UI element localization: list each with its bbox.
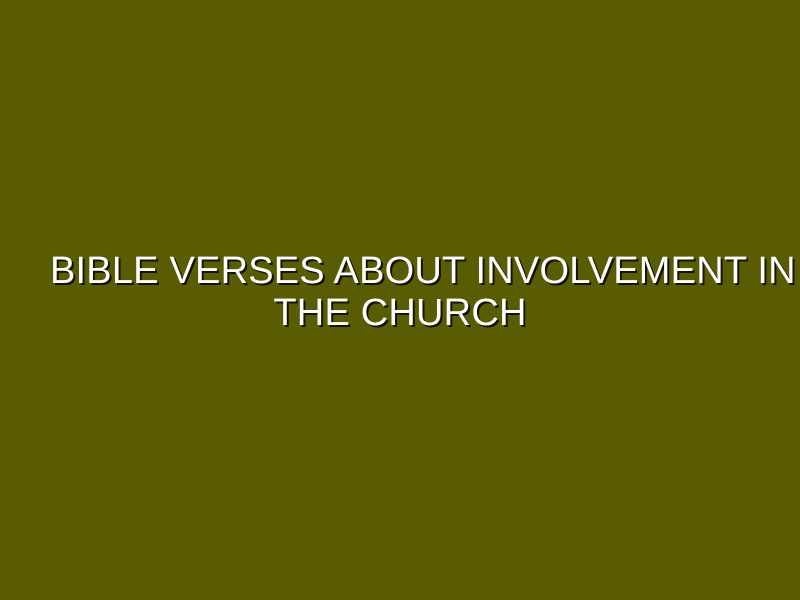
page-title: BIBLE VERSES ABOUT INVOLVEMENT IN THE CH… <box>50 250 750 334</box>
page-title-line-2: THE CHURCH <box>50 292 750 334</box>
hero-banner: BIBLE VERSES ABOUT INVOLVEMENT IN THE CH… <box>0 0 800 600</box>
page-title-line-1: BIBLE VERSES ABOUT INVOLVEMENT IN <box>50 250 750 292</box>
